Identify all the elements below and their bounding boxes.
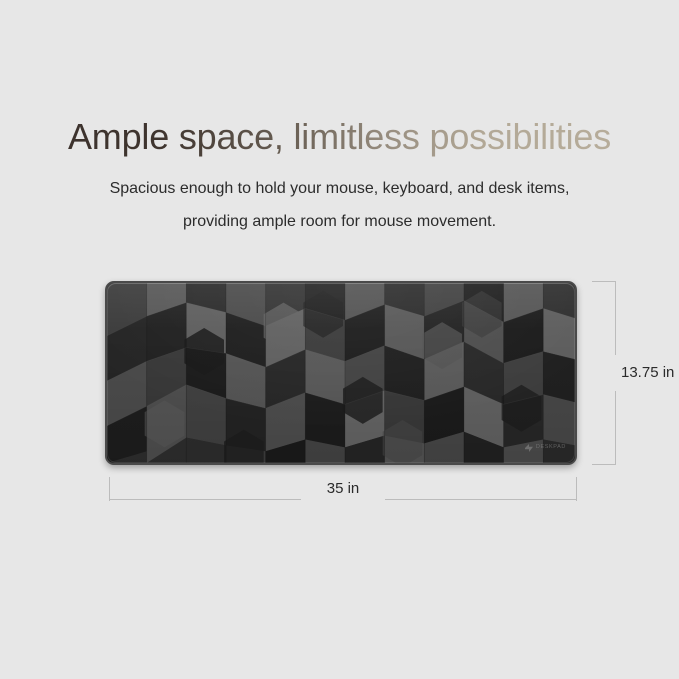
subtitle: Spacious enough to hold your mouse, keyb…	[0, 172, 679, 238]
desk-mat-surface-pattern	[107, 283, 575, 463]
dimension-height-label: 13.75 in	[615, 359, 676, 387]
dimension-height-rule-top	[615, 281, 616, 355]
dimension-width-cap-right	[576, 477, 577, 501]
dimension-width-cap-left	[109, 477, 110, 501]
brand-wordmark: DESKPAD	[536, 445, 566, 451]
product-image-desk-mat: DESKPAD	[105, 281, 577, 465]
dimension-width-rule-left	[109, 499, 301, 500]
dimension-width: 35 in	[109, 477, 577, 503]
product-feature-panel: Ample space, limitless possibilities Spa…	[0, 0, 679, 679]
page-title: Ample space, limitless possibilities	[0, 114, 679, 159]
dimension-height-cap-bottom	[592, 464, 616, 465]
dimension-width-rule-right	[385, 499, 577, 500]
brand-logo: DESKPAD	[525, 444, 566, 452]
subtitle-line-1: Spacious enough to hold your mouse, keyb…	[0, 172, 679, 205]
dimension-height: 13.75 in	[592, 281, 679, 465]
dimension-height-rule-bottom	[615, 391, 616, 465]
brand-glyph-icon	[525, 444, 533, 452]
dimension-height-cap-top	[592, 281, 616, 282]
subtitle-line-2: providing ample room for mouse movement.	[0, 205, 679, 238]
desk-mat-body: DESKPAD	[105, 281, 577, 465]
dimension-width-label: 35 in	[318, 479, 369, 499]
